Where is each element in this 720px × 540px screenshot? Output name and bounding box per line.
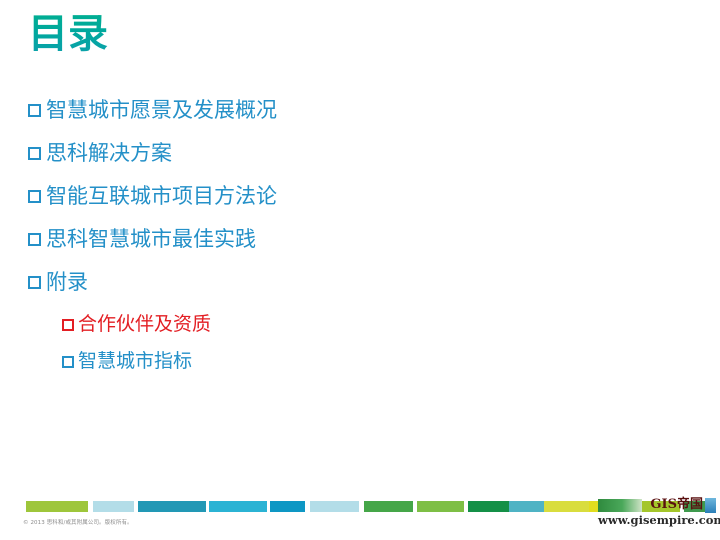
hollow-square-bullet-icon <box>28 190 41 203</box>
color-bar-segment <box>209 501 266 512</box>
outline-item-label: 智慧城市愿景及发展概况 <box>46 96 277 125</box>
watermark-brand: GIS帝国 <box>642 498 705 512</box>
color-bar-segment <box>270 501 305 512</box>
page-title: 目录 <box>28 8 108 60</box>
outline-item-4[interactable]: 思科智慧城市最佳实践 <box>28 225 668 254</box>
outline-item-1[interactable]: 智慧城市愿景及发展概况 <box>28 96 668 125</box>
copyright-text: © 2013 思科和/或其附属公司。版权所有。 <box>23 519 133 527</box>
hollow-square-bullet-icon <box>28 104 41 117</box>
color-bar-segment <box>417 501 465 512</box>
watermark: GIS帝国 www.gisempire.com <box>598 496 716 534</box>
hollow-square-bullet-icon <box>28 147 41 160</box>
watermark-url: www.gisempire.com <box>598 513 716 527</box>
outline-item-2[interactable]: 思科解决方案 <box>28 139 668 168</box>
hollow-square-bullet-icon <box>28 233 41 246</box>
color-bar-segment <box>468 501 509 512</box>
hollow-square-bullet-icon <box>62 319 74 331</box>
color-bar-segment <box>544 501 589 512</box>
outline-subitem-label: 合作伙伴及资质 <box>78 311 211 338</box>
outline-subitem-label: 智慧城市指标 <box>78 348 192 375</box>
slide-canvas: 目录 智慧城市愿景及发展概况 思科解决方案 智能互联城市项目方法论 思科智慧城市… <box>0 0 720 540</box>
outline-item-label: 智能互联城市项目方法论 <box>46 182 277 211</box>
outline-item-5[interactable]: 附录 <box>28 268 668 297</box>
watermark-brand-row: GIS帝国 <box>598 496 716 514</box>
outline-list: 智慧城市愿景及发展概况 思科解决方案 智能互联城市项目方法论 思科智慧城市最佳实… <box>28 96 668 385</box>
color-bar-segment <box>364 501 413 512</box>
outline-item-label: 附录 <box>46 268 88 297</box>
hollow-square-bullet-icon <box>62 356 74 368</box>
blue-swatch-icon <box>705 498 716 513</box>
color-bar-segment <box>509 501 544 512</box>
outline-item-label: 思科解决方案 <box>46 139 172 168</box>
outline-subitem-1[interactable]: 合作伙伴及资质 <box>62 311 668 338</box>
color-bar-segment <box>310 501 359 512</box>
outline-subitem-2[interactable]: 智慧城市指标 <box>62 348 668 375</box>
outline-item-3[interactable]: 智能互联城市项目方法论 <box>28 182 668 211</box>
color-bar-segment <box>26 501 88 512</box>
color-bar-segment <box>93 501 134 512</box>
color-bar-segment <box>138 501 207 512</box>
green-swatch-icon <box>598 499 642 512</box>
hollow-square-bullet-icon <box>28 276 41 289</box>
outline-item-label: 思科智慧城市最佳实践 <box>46 225 256 254</box>
